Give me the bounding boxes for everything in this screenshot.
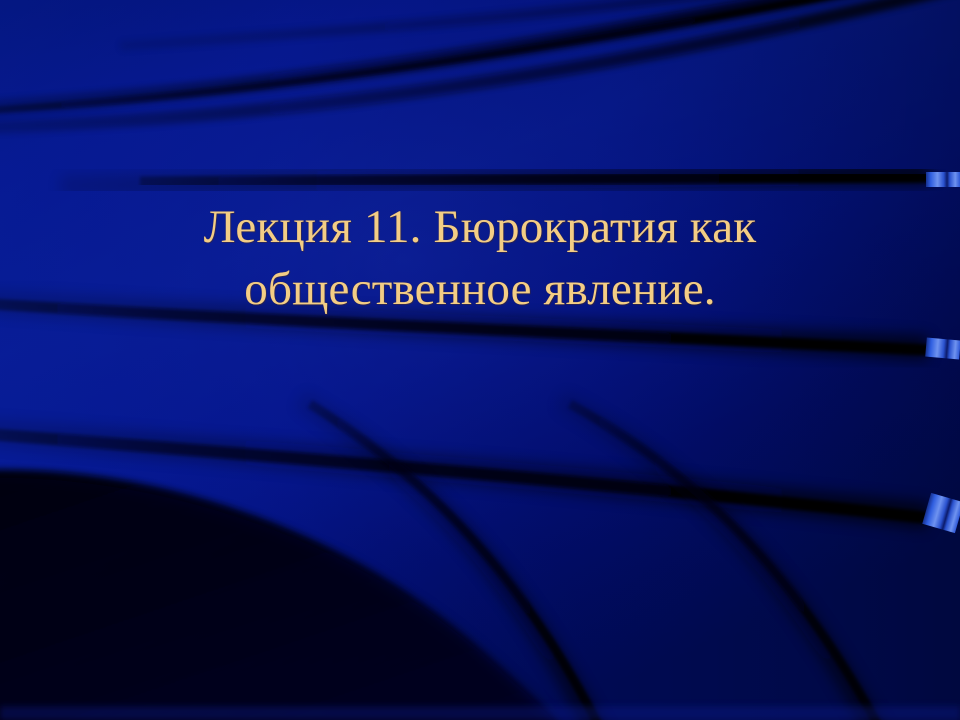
accent-dash-1 — [926, 172, 960, 187]
title-slide: Лекция 11. Бюрократия как общественное я… — [0, 0, 960, 720]
bottom-glow-strip — [0, 706, 960, 720]
swoosh-horizontal-band — [60, 174, 930, 186]
page-title: Лекция 11. Бюрократия как общественное я… — [40, 196, 920, 320]
title-block: Лекция 11. Бюрократия как общественное я… — [0, 196, 960, 320]
accent-dash-2 — [925, 338, 960, 360]
slide-background-artwork — [0, 0, 960, 720]
swoosh-horizontal-band-core — [140, 177, 928, 182]
